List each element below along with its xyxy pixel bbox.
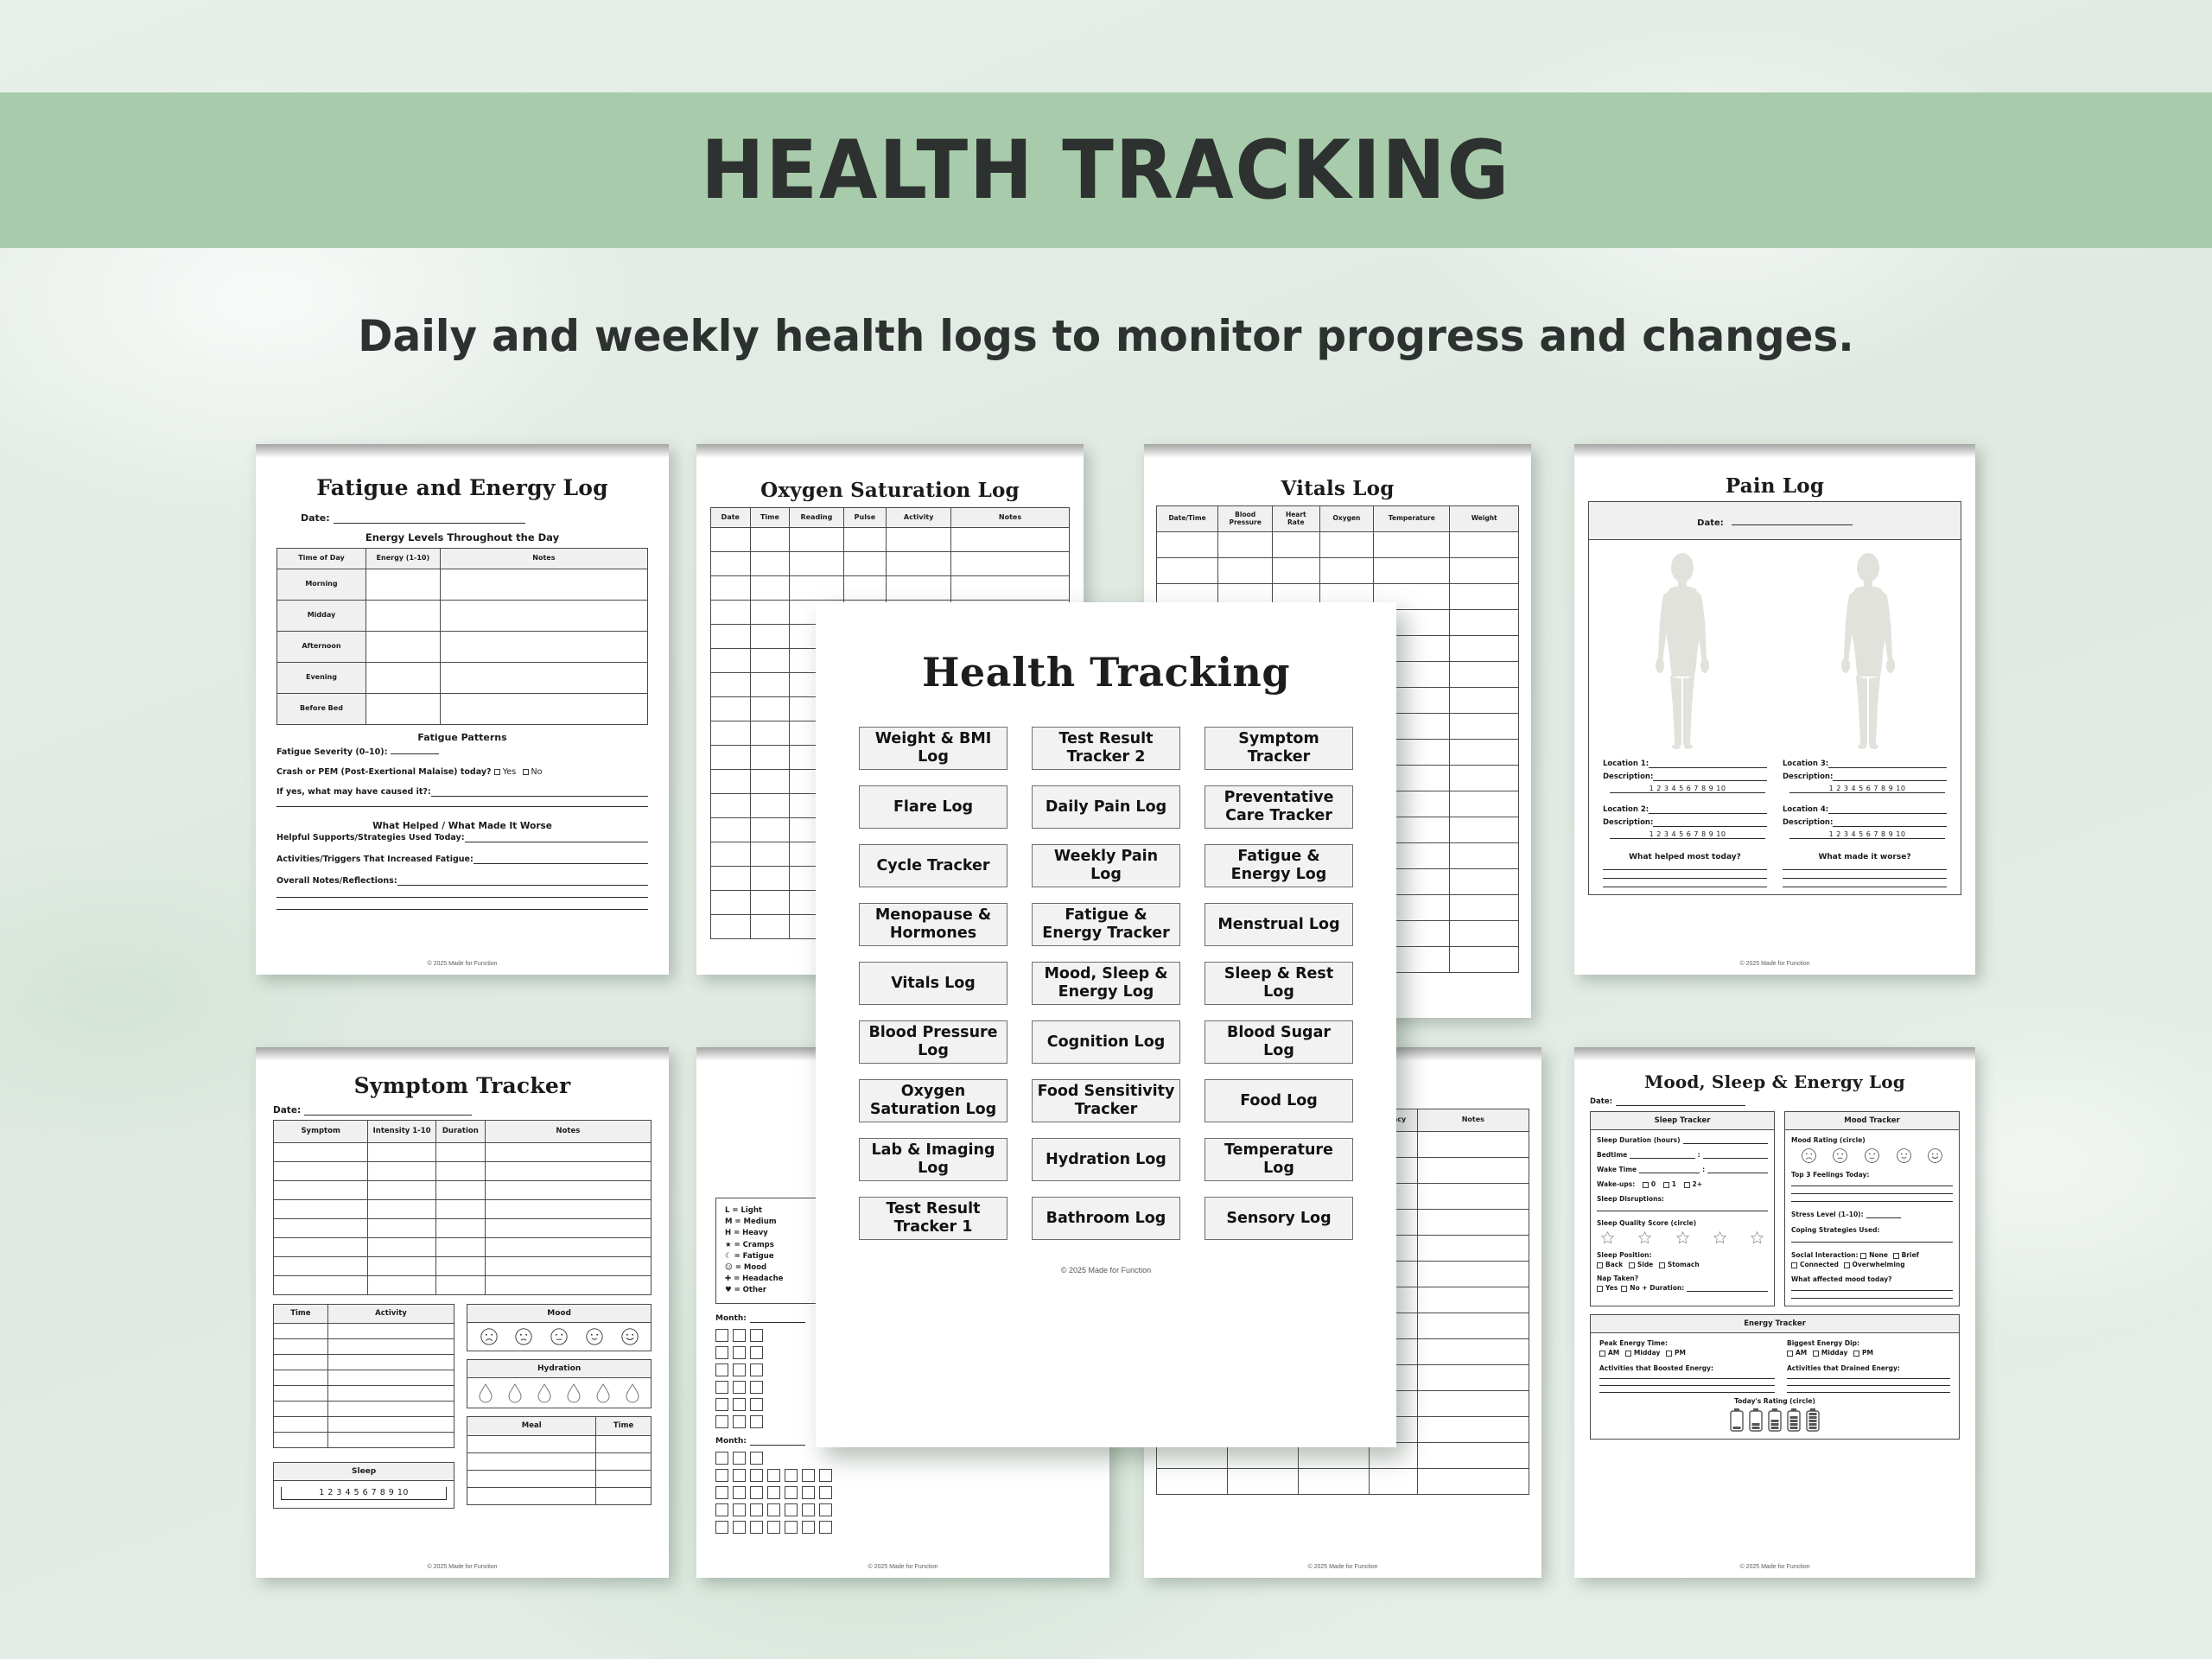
write-line[interactable] [276, 806, 648, 807]
cycle-checkbox[interactable] [733, 1381, 746, 1394]
overlay-button[interactable]: Lab & Imaging Log [859, 1138, 1007, 1181]
overlay-button[interactable]: Test Result Tracker 2 [1032, 727, 1180, 770]
checkbox-icon[interactable] [1791, 1262, 1797, 1268]
cycle-checkbox[interactable] [715, 1452, 728, 1465]
water-drop-icon[interactable] [625, 1382, 640, 1403]
cycle-checkbox[interactable] [802, 1503, 815, 1516]
cycle-checkbox[interactable] [715, 1503, 728, 1516]
overlay-button[interactable]: Temperature Log [1205, 1138, 1353, 1181]
symptom-title: Symptom Tracker [273, 1073, 652, 1098]
sheet-pain-log[interactable]: Pain Log Date: [1574, 444, 1975, 975]
fatigue-energy-table: Time of Day Energy (1-10) Notes Morning … [276, 548, 648, 725]
overlay-index-card[interactable]: Health Tracking Weight & BMI LogTest Res… [816, 602, 1396, 1447]
table-row[interactable] [1157, 532, 1519, 558]
copyright: © 2025 Made for Function [696, 1564, 1109, 1570]
table-row[interactable] [274, 1200, 652, 1219]
overlay-button[interactable]: Bathroom Log [1032, 1197, 1180, 1240]
checkbox-icon[interactable] [1621, 1286, 1627, 1292]
oxygen-title: Oxygen Saturation Log [710, 479, 1070, 502]
table-row[interactable] [274, 1257, 652, 1276]
cycle-month-field-1[interactable]: Month: [715, 1314, 805, 1323]
cycle-checkbox[interactable] [750, 1486, 763, 1499]
overlay-title: Health Tracking [859, 649, 1353, 696]
sleep-tracker-panel[interactable]: Sleep Tracker Sleep Duration (hours) Bed… [1590, 1111, 1775, 1306]
symptom-table: Symptom Intensity 1-10 Duration Notes [273, 1120, 652, 1295]
checkbox-icon[interactable] [1860, 1253, 1866, 1259]
cycle-checkbox[interactable] [785, 1521, 798, 1534]
symptom-date-field[interactable]: Date: [273, 1105, 472, 1116]
checkbox-icon[interactable] [1813, 1351, 1819, 1357]
overlay-button[interactable]: Fatigue & Energy Log [1205, 844, 1353, 887]
overlay-button[interactable]: Hydration Log [1032, 1138, 1180, 1181]
table-row[interactable] [467, 1488, 652, 1505]
legend-item: H = Heavy [725, 1228, 820, 1239]
date-label: Date: [273, 1105, 301, 1116]
checkbox-icon[interactable] [1629, 1262, 1635, 1268]
checkbox-icon[interactable] [1853, 1351, 1859, 1357]
cycle-checkbox[interactable] [819, 1469, 832, 1482]
table-row[interactable] [1157, 1469, 1529, 1495]
affected-mood-label: What affected mood today? [1791, 1275, 1953, 1283]
fatigue-cause-field[interactable]: If yes, what may have caused it?: [276, 787, 648, 797]
star-icon[interactable] [1713, 1230, 1727, 1245]
cycle-checkbox[interactable] [733, 1398, 746, 1411]
table-row[interactable] [711, 576, 1070, 601]
cycle-checkbox[interactable] [733, 1329, 746, 1342]
header-banner: HEALTH TRACKING [0, 92, 2212, 248]
copyright: © 2025 Made for Function [256, 961, 669, 967]
cycle-checkbox[interactable] [767, 1469, 780, 1482]
battery-3-icon[interactable] [1768, 1408, 1782, 1432]
cycle-checkbox[interactable] [819, 1486, 832, 1499]
mood-face-sad-icon[interactable] [514, 1327, 533, 1346]
write-line[interactable] [276, 909, 648, 910]
cycle-checkbox[interactable] [819, 1521, 832, 1534]
copyright: © 2025 Made for Function [1144, 1564, 1541, 1570]
drained-energy-field[interactable]: Activities that Drained Energy: [1787, 1364, 1950, 1393]
peak-energy-field[interactable]: Peak Energy Time: AM Midday PM [1599, 1339, 1775, 1357]
star-icon[interactable] [1600, 1230, 1615, 1245]
date-label: Date: [1590, 1097, 1612, 1106]
cycle-checkbox[interactable] [715, 1521, 728, 1534]
mood-face-neutral-icon[interactable] [1864, 1147, 1880, 1164]
overlay-button[interactable]: Sleep & Rest Log [1205, 962, 1353, 1005]
overlay-button[interactable]: Weekly Pain Log [1032, 844, 1180, 887]
table-row[interactable] [274, 1417, 454, 1433]
cycle-checkbox-grid-2[interactable] [715, 1452, 1090, 1534]
table-row[interactable] [1157, 558, 1519, 584]
cycle-checkbox[interactable] [715, 1363, 728, 1376]
cycle-checkbox[interactable] [802, 1486, 815, 1499]
mood-face-very-happy-icon[interactable] [620, 1327, 639, 1346]
stress-level-field[interactable]: Stress Level (1–10): [1791, 1211, 1953, 1218]
overlay-button[interactable]: Weight & BMI Log [859, 727, 1007, 770]
sheet-mood-sleep-energy-log[interactable]: Mood, Sleep & Energy Log Date: Sleep Tra… [1574, 1047, 1975, 1578]
cycle-checkbox[interactable] [750, 1329, 763, 1342]
table-row[interactable] [711, 528, 1070, 552]
cycle-checkbox[interactable] [715, 1381, 728, 1394]
cycle-checkbox[interactable] [750, 1469, 763, 1482]
write-line[interactable] [1791, 1290, 1953, 1291]
write-line[interactable] [1791, 1201, 1953, 1202]
sleep-panel[interactable]: Sleep 1 2 3 4 5 6 7 8 9 10 [273, 1462, 454, 1509]
checkbox-icon[interactable] [1893, 1253, 1899, 1259]
mood-sleep-title: Mood, Sleep & Energy Log [1590, 1071, 1960, 1092]
mood-face-neutral-icon[interactable] [550, 1327, 569, 1346]
legend-item: L = Light [725, 1205, 820, 1217]
energy-dip-field[interactable]: Biggest Energy Dip: AM Midday PM [1787, 1339, 1950, 1357]
write-line[interactable] [1791, 1193, 1953, 1194]
table-row[interactable] [274, 1276, 652, 1295]
fatigue-section-energy: Energy Levels Throughout the Day [276, 531, 648, 543]
nap-field[interactable]: Nap Taken? Yes No + Duration: [1597, 1274, 1768, 1292]
overlay-button[interactable]: Menstrual Log [1205, 903, 1353, 946]
page-subtitle: Daily and weekly health logs to monitor … [33, 311, 2178, 361]
table-row[interactable] [274, 1433, 454, 1448]
cycle-checkbox[interactable] [802, 1469, 815, 1482]
copyright: © 2025 Made for Function [1574, 961, 1975, 967]
todays-rating-label: Today's Rating (circle) [1599, 1397, 1950, 1405]
cycle-checkbox[interactable] [750, 1381, 763, 1394]
cycle-checkbox[interactable] [750, 1521, 763, 1534]
battery-rating-icons[interactable] [1599, 1408, 1950, 1432]
sleep-quality-stars[interactable] [1597, 1227, 1768, 1245]
write-line[interactable] [1791, 1185, 1953, 1186]
cycle-checkbox[interactable] [767, 1486, 780, 1499]
checkbox-no-icon[interactable] [523, 769, 529, 775]
checkbox-icon[interactable] [1684, 1182, 1690, 1188]
star-icon[interactable] [1675, 1230, 1690, 1245]
table-row[interactable] [274, 1238, 652, 1257]
table-row[interactable]: Before Bed [277, 694, 648, 725]
cycle-checkbox[interactable] [750, 1346, 763, 1359]
cycle-checkbox[interactable] [767, 1503, 780, 1516]
water-drop-icon[interactable] [595, 1382, 611, 1403]
write-line[interactable] [1791, 1242, 1953, 1243]
battery-2-icon[interactable] [1749, 1408, 1763, 1432]
checkbox-icon[interactable] [1599, 1351, 1605, 1357]
star-icon[interactable] [1750, 1230, 1764, 1245]
table-row[interactable]: Midday [277, 601, 648, 632]
write-line[interactable] [1791, 1298, 1953, 1299]
overlay-button[interactable]: Symptom Tracker [1205, 727, 1353, 770]
overlay-button-grid[interactable]: Weight & BMI LogTest Result Tracker 2Sym… [859, 727, 1353, 1240]
table-row[interactable] [274, 1370, 454, 1386]
wakeups-field[interactable]: Wake-ups: 0 1 2+ [1597, 1180, 1768, 1188]
body-back-icon[interactable] [1840, 550, 1897, 749]
pain-scale-4[interactable]: 1 2 3 4 5 6 7 8 9 10 [1789, 830, 1945, 839]
table-row[interactable] [467, 1453, 652, 1471]
checkbox-icon[interactable] [1597, 1262, 1603, 1268]
fatigue-title: Fatigue and Energy Log [276, 475, 648, 500]
legend-item: M = Medium [725, 1217, 820, 1228]
overlay-copyright: © 2025 Made for Function [859, 1266, 1353, 1274]
meal-table: Meal Time [467, 1416, 652, 1505]
checkbox-icon[interactable] [1625, 1351, 1631, 1357]
sheet-fatigue-energy-log[interactable]: Fatigue and Energy Log Date: Energy Leve… [256, 444, 669, 975]
table-row[interactable] [274, 1386, 454, 1402]
checkbox-icon[interactable] [1844, 1262, 1850, 1268]
sleep-scale[interactable]: 1 2 3 4 5 6 7 8 9 10 [281, 1487, 447, 1500]
pain-scale-2[interactable]: 1 2 3 4 5 6 7 8 9 10 [1610, 830, 1765, 839]
cycle-checkbox[interactable] [785, 1486, 798, 1499]
checkbox-icon[interactable] [1666, 1351, 1672, 1357]
table-row[interactable] [274, 1402, 454, 1417]
table-row[interactable] [274, 1143, 652, 1162]
overlay-button[interactable]: Daily Pain Log [1032, 785, 1180, 829]
mood-face-very-sad-icon[interactable] [480, 1327, 499, 1346]
overlay-button[interactable]: Preventative Care Tracker [1205, 785, 1353, 829]
cycle-legend: L = Light M = Medium H = Heavy ★ = Cramp… [715, 1198, 829, 1304]
table-header-row: Time Activity [274, 1305, 454, 1324]
cycle-checkbox[interactable] [750, 1452, 763, 1465]
cycle-checkbox[interactable] [802, 1521, 815, 1534]
battery-1-icon[interactable] [1730, 1408, 1744, 1432]
cycle-checkbox[interactable] [733, 1486, 746, 1499]
checkbox-icon[interactable] [1659, 1262, 1665, 1268]
cycle-checkbox[interactable] [733, 1503, 746, 1516]
write-line[interactable] [276, 897, 648, 898]
table-row[interactable] [274, 1324, 454, 1339]
checkbox-icon[interactable] [1643, 1182, 1649, 1188]
table-header-row: Time of Day Energy (1-10) Notes [277, 549, 648, 569]
sheet-symptom-tracker[interactable]: Symptom Tracker Date: Symptom Intensity … [256, 1047, 669, 1578]
mood-face-very-sad-icon[interactable] [1801, 1147, 1817, 1164]
checkbox-row[interactable] [715, 1503, 1090, 1516]
table-row[interactable] [467, 1471, 652, 1488]
cycle-checkbox[interactable] [715, 1415, 728, 1428]
date-label: Date: [1697, 518, 1724, 528]
fatigue-section-helped: What Helped / What Made It Worse [276, 821, 648, 831]
cycle-checkbox[interactable] [715, 1329, 728, 1342]
pain-helped-block[interactable]: What helped most today? [1603, 853, 1767, 887]
water-drop-icon[interactable] [537, 1382, 552, 1403]
legend-item: ✚ = Headache [725, 1274, 820, 1285]
overlay-button[interactable]: Cycle Tracker [859, 844, 1007, 887]
cycle-checkbox[interactable] [715, 1398, 728, 1411]
cycle-checkbox[interactable] [750, 1415, 763, 1428]
bedtime-field[interactable]: Bedtime: [1597, 1151, 1768, 1159]
checkbox-row[interactable] [715, 1469, 1090, 1482]
copyright: © 2025 Made for Function [256, 1564, 669, 1570]
mood-face-happy-icon[interactable] [1896, 1147, 1912, 1164]
overlay-button[interactable]: Blood Pressure Log [859, 1020, 1007, 1064]
table-row[interactable] [467, 1436, 652, 1453]
table-header-row: Date Time Reading Pulse Activity Notes [711, 508, 1070, 528]
pain-scale-3[interactable]: 1 2 3 4 5 6 7 8 9 10 [1789, 785, 1945, 793]
pain-scale-1[interactable]: 1 2 3 4 5 6 7 8 9 10 [1610, 785, 1765, 793]
overlay-button[interactable]: Fatigue & Energy Tracker [1032, 903, 1180, 946]
fatigue-date-field: Date: [301, 512, 525, 524]
boosted-energy-field[interactable]: Activities that Boosted Energy: [1599, 1364, 1775, 1393]
overlay-button[interactable]: Cognition Log [1032, 1020, 1180, 1064]
overlay-button[interactable]: Food Sensitivity Tracker [1032, 1079, 1180, 1122]
mood-face-sad-icon[interactable] [1832, 1147, 1848, 1164]
cycle-checkbox[interactable] [750, 1398, 763, 1411]
cycle-checkbox[interactable] [750, 1503, 763, 1516]
table-row[interactable] [274, 1162, 652, 1181]
copyright: © 2025 Made for Function [1574, 1564, 1975, 1570]
overlay-button[interactable]: Blood Sugar Log [1205, 1020, 1353, 1064]
overlay-button[interactable]: Oxygen Saturation Log [859, 1079, 1007, 1122]
cycle-month-field-2[interactable]: Month: [715, 1437, 805, 1446]
legend-item: ☾ = Fatigue [725, 1251, 820, 1262]
mood-face-happy-icon[interactable] [585, 1327, 604, 1346]
hydration-panel[interactable]: Hydration [467, 1359, 652, 1408]
pain-location-1[interactable]: Location 1: Description: 1 2 3 4 5 6 7 8… [1603, 760, 1767, 793]
social-interaction-field[interactable]: Social Interaction: None Brief Connected… [1791, 1251, 1953, 1268]
water-drop-icon[interactable] [507, 1382, 523, 1403]
cycle-checkbox[interactable] [819, 1503, 832, 1516]
legend-item: ★ = Cramps [725, 1240, 820, 1251]
table-row[interactable] [274, 1219, 652, 1238]
mood-rating-faces[interactable] [1791, 1144, 1953, 1164]
pain-location-4[interactable]: Location 4: Description: 1 2 3 4 5 6 7 8… [1783, 805, 1947, 839]
overlay-button[interactable]: Food Log [1205, 1079, 1353, 1122]
checkbox-yes-icon[interactable] [494, 769, 500, 775]
pain-title: Pain Log [1588, 474, 1961, 498]
checkbox-icon[interactable] [1663, 1182, 1669, 1188]
table-row[interactable]: Afternoon [277, 632, 648, 663]
legend-item: ☺ = Mood [725, 1262, 820, 1274]
mood-face-very-happy-icon[interactable] [1927, 1147, 1943, 1164]
mood-sleep-date-field[interactable]: Date: [1590, 1097, 1745, 1106]
table-header-row: Symptom Intensity 1-10 Duration Notes [274, 1121, 652, 1143]
cycle-checkbox[interactable] [733, 1521, 746, 1534]
cycle-checkbox[interactable] [715, 1469, 728, 1482]
body-front-icon[interactable] [1654, 550, 1711, 749]
table-row[interactable] [274, 1181, 652, 1200]
table-row[interactable] [274, 1339, 454, 1355]
table-row[interactable]: Evening [277, 663, 648, 694]
sleep-quality-label: Sleep Quality Score (circle) [1597, 1219, 1768, 1227]
cycle-checkbox[interactable] [715, 1486, 728, 1499]
legend-item: ♥ = Other [725, 1285, 820, 1296]
pain-location-3[interactable]: Location 3: Description: 1 2 3 4 5 6 7 8… [1783, 760, 1947, 793]
feelings-label: Top 3 Feelings Today: [1791, 1171, 1953, 1179]
table-row[interactable]: Morning [277, 569, 648, 601]
mood-rating-label: Mood Rating (circle) [1791, 1136, 1953, 1144]
fatigue-notes-field[interactable]: Overall Notes/Reflections: [276, 876, 648, 886]
fatigue-supports-field[interactable]: Helpful Supports/Strategies Used Today: [276, 833, 648, 842]
overlay-button[interactable]: Flare Log [859, 785, 1007, 829]
cycle-checkbox[interactable] [733, 1363, 746, 1376]
cycle-checkbox[interactable] [733, 1469, 746, 1482]
star-icon[interactable] [1637, 1230, 1652, 1245]
wake-time-field[interactable]: Wake Time: [1597, 1166, 1768, 1173]
page-title: HEALTH TRACKING [702, 124, 1511, 218]
sleep-duration-field[interactable]: Sleep Duration (hours) [1597, 1136, 1768, 1144]
pain-body-panel: Date: [1588, 501, 1961, 895]
overlay-button[interactable]: Vitals Log [859, 962, 1007, 1005]
table-header-row: Date/Time Blood Pressure Heart Rate Oxyg… [1157, 506, 1519, 532]
pain-worse-block[interactable]: What made it worse? [1783, 853, 1947, 887]
vitals-title: Vitals Log [1156, 477, 1519, 500]
sleep-position-field[interactable]: Sleep Position: Back Side Stomach [1597, 1251, 1768, 1268]
checkbox-icon[interactable] [1787, 1351, 1793, 1357]
coping-label: Coping Strategies Used: [1791, 1226, 1953, 1234]
mood-panel[interactable]: Mood [467, 1304, 652, 1351]
sleep-disruptions-field[interactable]: Sleep Disruptions: [1597, 1195, 1768, 1203]
cycle-checkbox[interactable] [785, 1469, 798, 1482]
battery-4-icon[interactable] [1787, 1408, 1801, 1432]
cycle-checkbox[interactable] [750, 1363, 763, 1376]
pain-date-row[interactable]: Date: [1589, 502, 1961, 540]
body-diagrams[interactable] [1589, 540, 1961, 754]
table-row[interactable] [274, 1355, 454, 1370]
water-drop-icon[interactable] [566, 1382, 582, 1403]
checkbox-row[interactable] [715, 1452, 1090, 1465]
pain-location-2[interactable]: Location 2: Description: 1 2 3 4 5 6 7 8… [1603, 805, 1767, 839]
battery-5-icon[interactable] [1806, 1408, 1820, 1432]
overlay-button[interactable]: Test Result Tracker 1 [859, 1197, 1007, 1240]
checkbox-icon[interactable] [1597, 1286, 1603, 1292]
fatigue-section-patterns: Fatigue Patterns [276, 732, 648, 743]
cycle-checkbox[interactable] [785, 1503, 798, 1516]
cycle-checkbox[interactable] [715, 1346, 728, 1359]
cycle-checkbox[interactable] [733, 1452, 746, 1465]
table-row[interactable] [711, 552, 1070, 576]
fatigue-pem-field[interactable]: Crash or PEM (Post-Exertional Malaise) t… [276, 767, 648, 777]
fatigue-triggers-field[interactable]: Activities/Triggers That Increased Fatig… [276, 855, 648, 864]
energy-tracker-panel[interactable]: Energy Tracker Peak Energy Time: AM Midd… [1590, 1314, 1960, 1440]
overlay-button[interactable]: Sensory Log [1205, 1197, 1353, 1240]
cycle-checkbox[interactable] [767, 1521, 780, 1534]
activity-table: Time Activity [273, 1304, 454, 1448]
cycle-checkbox[interactable] [733, 1415, 746, 1428]
overlay-button[interactable]: Mood, Sleep & Energy Log [1032, 962, 1180, 1005]
fatigue-severity-field[interactable]: Fatigue Severity (0–10): [276, 747, 648, 757]
water-drop-icon[interactable] [478, 1382, 493, 1403]
checkbox-row[interactable] [715, 1486, 1090, 1499]
checkbox-row[interactable] [715, 1521, 1090, 1534]
mood-tracker-panel[interactable]: Mood Tracker Mood Rating (circle) Top 3 … [1784, 1111, 1960, 1306]
overlay-button[interactable]: Menopause & Hormones [859, 903, 1007, 946]
table-header-row: Meal Time [467, 1417, 652, 1436]
cycle-checkbox[interactable] [733, 1346, 746, 1359]
date-label: Date: [301, 512, 330, 524]
